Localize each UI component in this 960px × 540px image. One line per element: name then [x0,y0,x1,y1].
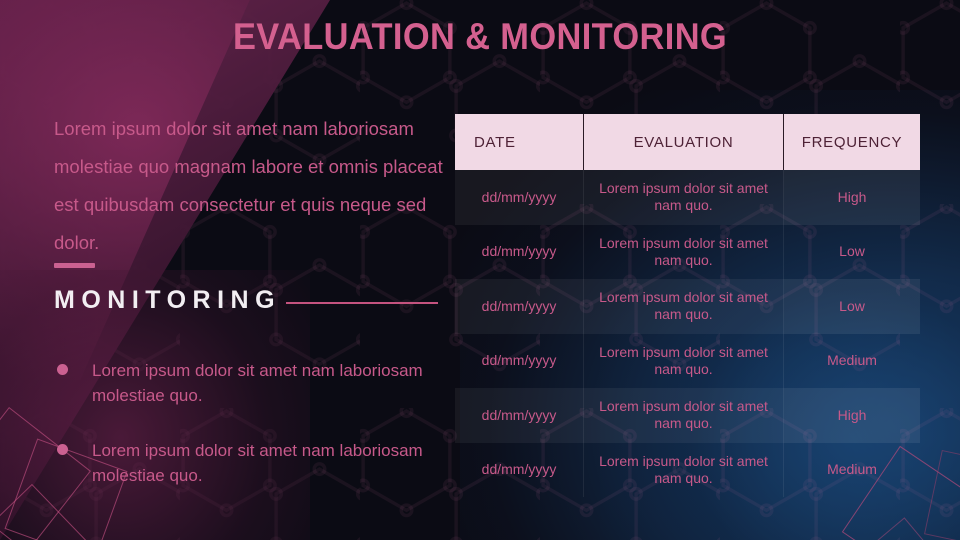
cell-frequency: Medium [784,334,920,389]
lead-paragraph: Lorem ipsum dolor sit amet nam laboriosa… [54,110,446,262]
cell-frequency: Medium [784,443,920,498]
cell-date: dd/mm/yyyy [455,279,584,334]
bullet-list: Lorem ipsum dolor sit amet nam laboriosa… [54,358,444,518]
cell-evaluation: Lorem ipsum dolor sit amet nam quo. [584,170,784,225]
cell-evaluation-text: Lorem ipsum dolor sit amet nam quo. [598,235,770,269]
table-row[interactable]: dd/mm/yyyy Lorem ipsum dolor sit amet na… [455,334,920,389]
column-header-frequency: FREQUENCY [784,114,920,170]
evaluation-table: DATE EVALUATION FREQUENCY dd/mm/yyyy Lor… [455,114,920,497]
cell-evaluation-text: Lorem ipsum dolor sit amet nam quo. [598,344,770,378]
cell-evaluation-text: Lorem ipsum dolor sit amet nam quo. [598,453,770,487]
cell-evaluation: Lorem ipsum dolor sit amet nam quo. [584,225,784,280]
list-item-label: Lorem ipsum dolor sit amet nam laboriosa… [92,438,444,488]
list-item: Lorem ipsum dolor sit amet nam laboriosa… [54,358,444,408]
bullet-dot-icon [57,444,68,455]
list-item-label: Lorem ipsum dolor sit amet nam laboriosa… [92,358,444,408]
section-heading-rule [286,302,438,304]
cell-date: dd/mm/yyyy [455,170,584,225]
cell-evaluation: Lorem ipsum dolor sit amet nam quo. [584,334,784,389]
table-row[interactable]: dd/mm/yyyy Lorem ipsum dolor sit amet na… [455,170,920,225]
column-header-date: DATE [455,114,584,170]
slide-content: EVALUATION & MONITORING Lorem ipsum dolo… [0,0,960,540]
cell-frequency: Low [784,225,920,280]
cell-date: dd/mm/yyyy [455,334,584,389]
accent-bar [54,263,95,268]
cell-date: dd/mm/yyyy [455,443,584,498]
cell-evaluation-text: Lorem ipsum dolor sit amet nam quo. [598,289,770,323]
table-row[interactable]: dd/mm/yyyy Lorem ipsum dolor sit amet na… [455,225,920,280]
cell-date: dd/mm/yyyy [455,225,584,280]
table-row[interactable]: dd/mm/yyyy Lorem ipsum dolor sit amet na… [455,279,920,334]
cell-frequency: High [784,170,920,225]
cell-evaluation: Lorem ipsum dolor sit amet nam quo. [584,388,784,443]
cell-evaluation: Lorem ipsum dolor sit amet nam quo. [584,443,784,498]
bullet-dot-icon [57,364,68,375]
column-header-evaluation: EVALUATION [584,114,784,170]
table-header-row: DATE EVALUATION FREQUENCY [455,114,920,170]
cell-frequency: High [784,388,920,443]
section-heading: MONITORING [54,286,281,315]
list-item: Lorem ipsum dolor sit amet nam laboriosa… [54,438,444,488]
cell-date: dd/mm/yyyy [455,388,584,443]
cell-frequency: Low [784,279,920,334]
table-row[interactable]: dd/mm/yyyy Lorem ipsum dolor sit amet na… [455,388,920,443]
cell-evaluation: Lorem ipsum dolor sit amet nam quo. [584,279,784,334]
cell-evaluation-text: Lorem ipsum dolor sit amet nam quo. [598,398,770,432]
table-row[interactable]: dd/mm/yyyy Lorem ipsum dolor sit amet na… [455,443,920,498]
slide-title: EVALUATION & MONITORING [34,16,927,58]
cell-evaluation-text: Lorem ipsum dolor sit amet nam quo. [598,180,770,214]
